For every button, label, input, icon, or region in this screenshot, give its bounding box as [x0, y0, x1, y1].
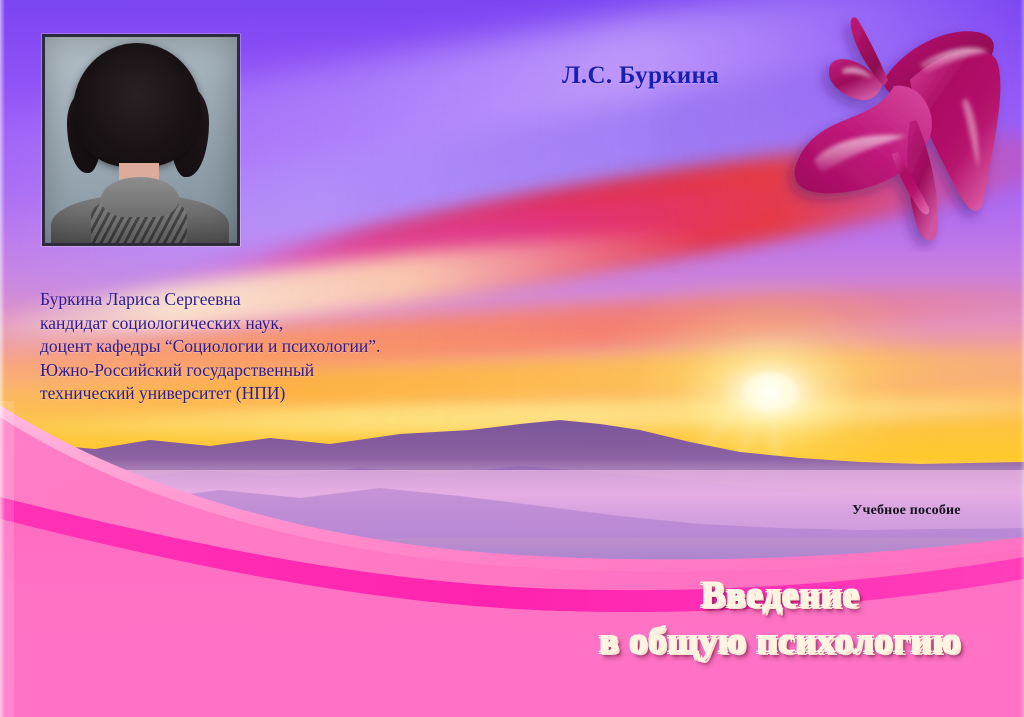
photo-vignette [45, 37, 237, 243]
edition-label: Учебное пособие [852, 503, 961, 519]
pink-wave-graphic [0, 387, 1024, 717]
author-bio: Буркина Лариса Сергеевна кандидат социол… [40, 288, 380, 406]
book-title-line-1: Введение [560, 573, 1000, 619]
author-photo [42, 34, 240, 246]
book-title-line-2: в общую психологию [560, 619, 1000, 665]
bio-line-4: Южно-Российский государственный [40, 359, 380, 383]
author-name: Л.С. Буркина [562, 62, 719, 90]
butterfly-icon [770, 2, 1020, 252]
bio-line-1: Буркина Лариса Сергеевна [40, 288, 380, 312]
book-title: Введение в общую психологию [560, 573, 1000, 665]
bio-line-2: кандидат социологических наук, [40, 312, 380, 336]
book-cover: Л.С. Буркина Буркина Лариса Сергеевна ка… [0, 0, 1024, 717]
bio-line-5: технический университет (НПИ) [40, 382, 380, 406]
bio-line-3: доцент кафедры “Социологии и психологии”… [40, 335, 380, 359]
